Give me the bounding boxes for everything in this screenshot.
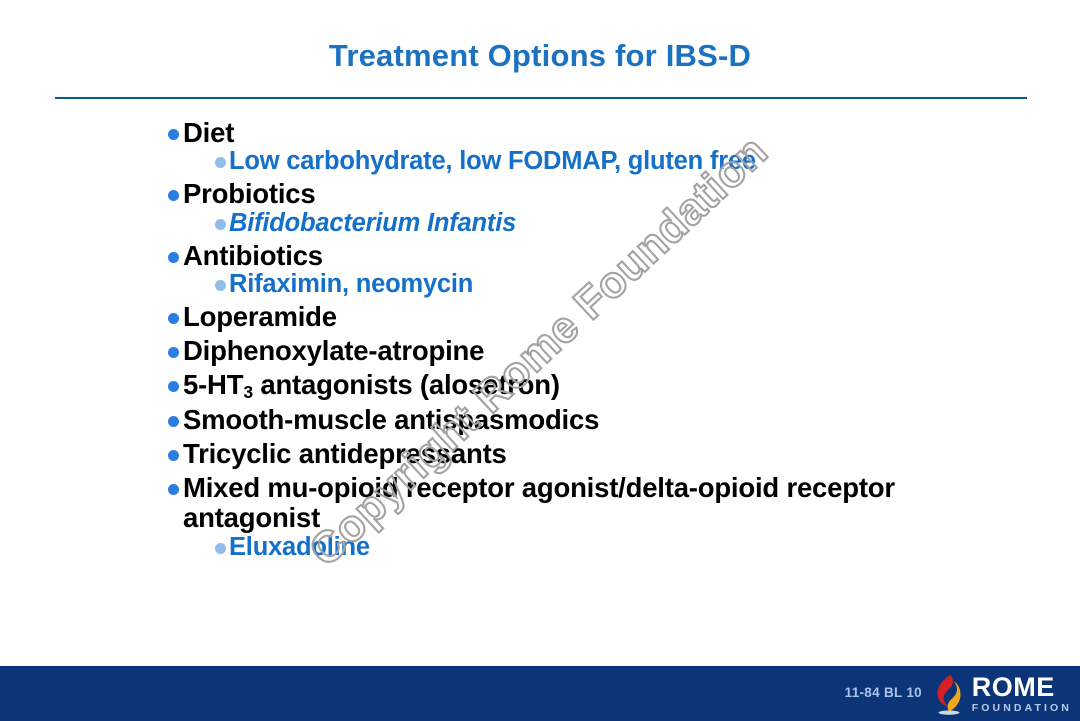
label-part-after: antagonists (alosetron) xyxy=(253,369,560,400)
bullet-dot-level1 xyxy=(168,347,179,358)
title-divider xyxy=(55,97,1027,99)
list-item: Eluxadoline xyxy=(168,533,958,561)
logo-tagline: FOUNDATION xyxy=(972,703,1072,714)
list-item-label: Low carbohydrate, low FODMAP, gluten fre… xyxy=(229,147,756,175)
bullet-dot-level1 xyxy=(168,129,179,140)
list-item: Rifaximin, neomycin xyxy=(168,270,958,298)
list-item-label: Mixed mu-opioid receptor agonist/delta-o… xyxy=(183,473,907,534)
bullet-dot-level2 xyxy=(215,280,226,291)
list-item-label: Diet xyxy=(183,118,234,148)
rome-foundation-logo: ROME FOUNDATION xyxy=(930,672,1072,716)
list-item: Mixed mu-opioid receptor agonist/delta-o… xyxy=(168,473,958,534)
list-item: 5-HT3 antagonists (alosetron) xyxy=(168,370,958,400)
list-item-label: Probiotics xyxy=(183,179,315,209)
list-item: Diphenoxylate-atropine xyxy=(168,336,958,366)
bullet-dot-level2 xyxy=(215,157,226,168)
list-item-label: Tricyclic antidepressants xyxy=(183,439,507,469)
list-item-label: Bifidobacterium Infantis xyxy=(229,209,516,237)
list-item-label: Loperamide xyxy=(183,302,337,332)
list-item-label: Diphenoxylate-atropine xyxy=(183,336,484,366)
list-item: Probiotics xyxy=(168,179,958,209)
bullet-dot-level1 xyxy=(168,381,179,392)
list-item: Low carbohydrate, low FODMAP, gluten fre… xyxy=(168,147,958,175)
slide-canvas: Treatment Options for IBS-D Diet Low car… xyxy=(0,0,1080,721)
bullet-dot-level2 xyxy=(215,543,226,554)
logo-wordmark: ROME FOUNDATION xyxy=(972,674,1072,714)
list-item: Bifidobacterium Infantis xyxy=(168,209,958,237)
bullet-dot-level1 xyxy=(168,313,179,324)
page-title: Treatment Options for IBS-D xyxy=(0,38,1080,74)
label-part-before: 5-HT xyxy=(183,369,243,400)
bullet-dot-level1 xyxy=(168,416,179,427)
list-item-label: Smooth-muscle antispasmodics xyxy=(183,405,599,435)
list-item-label: Eluxadoline xyxy=(229,533,370,561)
list-item: Loperamide xyxy=(168,302,958,332)
flame-icon xyxy=(930,673,968,715)
list-item: Tricyclic antidepressants xyxy=(168,439,958,469)
list-item: Diet xyxy=(168,118,958,148)
logo-name: ROME xyxy=(972,674,1072,701)
bullet-dot-level1 xyxy=(168,450,179,461)
bullet-dot-level1 xyxy=(168,190,179,201)
list-item: Antibiotics xyxy=(168,241,958,271)
list-item: Smooth-muscle antispasmodics xyxy=(168,405,958,435)
bullet-dot-level1 xyxy=(168,484,179,495)
footer-page-number: 11-84 BL 10 xyxy=(845,685,922,700)
bullet-dot-level2 xyxy=(215,219,226,230)
label-subscript: 3 xyxy=(243,382,253,402)
list-item-label: Antibiotics xyxy=(183,241,323,271)
bullet-dot-level1 xyxy=(168,252,179,263)
bullet-list: Diet Low carbohydrate, low FODMAP, glute… xyxy=(168,114,958,561)
list-item-label: Rifaximin, neomycin xyxy=(229,270,473,298)
list-item-label-5ht3: 5-HT3 antagonists (alosetron) xyxy=(183,370,560,400)
